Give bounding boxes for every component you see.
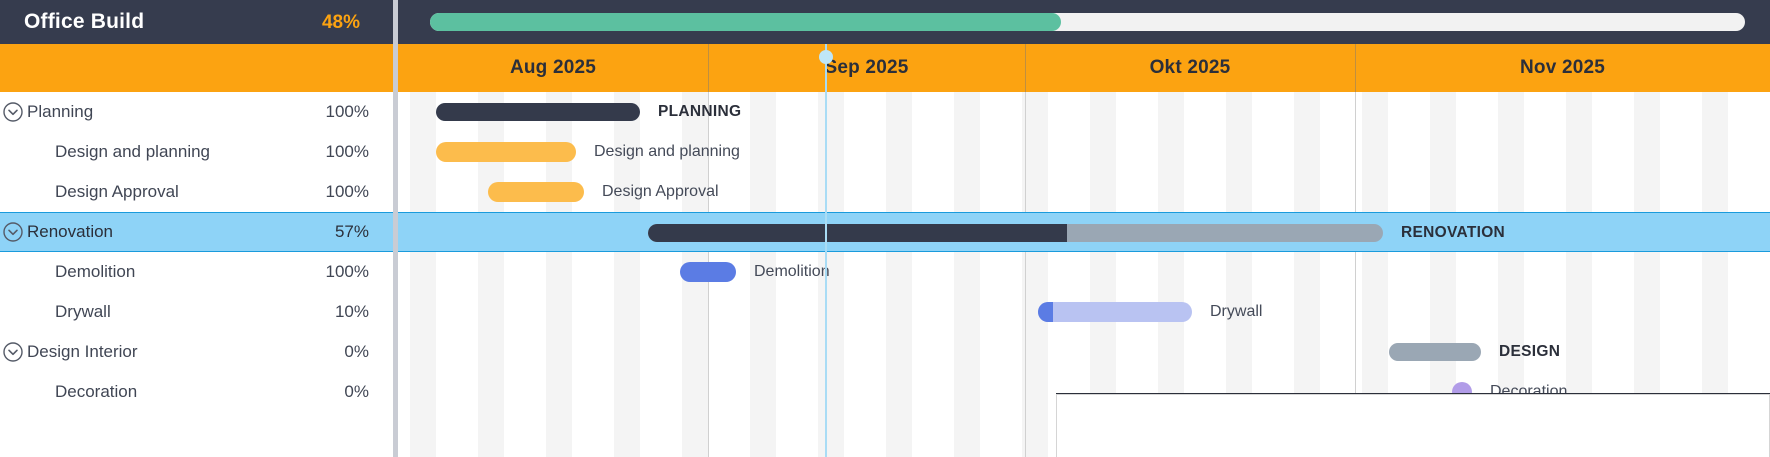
task-name-label: Renovation <box>27 222 113 242</box>
task-bar[interactable] <box>680 262 736 282</box>
overall-progress-fill <box>430 13 1061 31</box>
task-name-label: Drywall <box>55 302 111 322</box>
task-bar[interactable] <box>436 142 576 162</box>
task-list-sidebar: Planning100%Design and planning100%Desig… <box>0 92 393 457</box>
month-separator <box>1355 44 1356 92</box>
tooltip-panel <box>1056 394 1770 457</box>
task-bar[interactable] <box>488 182 584 202</box>
today-marker-line <box>825 44 827 457</box>
task-row-decoration[interactable]: Decoration0% <box>0 372 393 412</box>
task-percent-label: 100% <box>326 102 369 122</box>
month-separator <box>1025 44 1026 92</box>
task-row-design-interior[interactable]: Design Interior0% <box>0 332 393 372</box>
task-percent-label: 0% <box>344 382 369 402</box>
task-name-label: Design Interior <box>27 342 138 362</box>
summary-bar-progress <box>648 224 1067 242</box>
bar-label: RENOVATION <box>1401 213 1505 253</box>
bar-label: Demolition <box>754 252 830 292</box>
timeline-row: Design and planning <box>398 132 1770 172</box>
timeline-row: PLANNING <box>398 92 1770 132</box>
header-vertical-divider <box>393 0 398 44</box>
task-row-demolition[interactable]: Demolition100% <box>0 252 393 292</box>
month-header-divider <box>393 44 398 92</box>
month-separator <box>708 44 709 92</box>
task-percent-label: 10% <box>335 302 369 322</box>
today-marker-handle[interactable] <box>819 50 833 64</box>
bar-label: DESIGN <box>1499 332 1560 372</box>
month-label: Sep 2025 <box>708 44 1025 92</box>
gantt-chart-app: Office Build 48% Aug 2025Sep 2025Okt 202… <box>0 0 1770 457</box>
task-row-renovation[interactable]: Renovation57% <box>0 212 393 252</box>
month-label: Nov 2025 <box>1355 44 1770 92</box>
month-label: Okt 2025 <box>1025 44 1355 92</box>
chevron-down-icon[interactable] <box>2 101 24 123</box>
task-row-design-approval[interactable]: Design Approval100% <box>0 172 393 212</box>
summary-bar-progress <box>436 103 640 121</box>
bar-label: Design Approval <box>602 172 719 212</box>
bar-label: PLANNING <box>658 92 741 132</box>
overall-progress-track <box>430 13 1745 31</box>
month-label: Aug 2025 <box>398 44 708 92</box>
task-row-drywall[interactable]: Drywall10% <box>0 292 393 332</box>
task-name-label: Planning <box>27 102 93 122</box>
timeline-row: DESIGN <box>398 332 1770 372</box>
task-name-label: Decoration <box>55 382 137 402</box>
task-name-label: Design and planning <box>55 142 210 162</box>
project-title: Office Build <box>24 10 144 34</box>
timeline-row: RENOVATION <box>398 212 1770 252</box>
bar-label: Drywall <box>1210 292 1262 332</box>
task-percent-label: 100% <box>326 182 369 202</box>
summary-bar[interactable] <box>436 103 640 121</box>
task-percent-label: 0% <box>344 342 369 362</box>
task-percent-label: 57% <box>335 222 369 242</box>
task-row-planning[interactable]: Planning100% <box>0 92 393 132</box>
timeline-row: Demolition <box>398 252 1770 292</box>
task-name-label: Design Approval <box>55 182 179 202</box>
chevron-down-icon[interactable] <box>2 221 24 243</box>
task-row-design-and-planning[interactable]: Design and planning100% <box>0 132 393 172</box>
task-name-label: Demolition <box>55 262 135 282</box>
task-bar[interactable] <box>1038 302 1192 322</box>
bar-label: Design and planning <box>594 132 740 172</box>
task-percent-label: 100% <box>326 262 369 282</box>
timeline-row: Design Approval <box>398 172 1770 212</box>
task-bar-progress <box>1038 302 1053 322</box>
timeline-vertical-divider[interactable] <box>393 92 398 457</box>
summary-bar[interactable] <box>1389 343 1481 361</box>
summary-bar[interactable] <box>648 224 1383 242</box>
chevron-down-icon[interactable] <box>2 341 24 363</box>
project-percent-complete: 48% <box>300 12 360 34</box>
timeline-row: Drywall <box>398 292 1770 332</box>
task-percent-label: 100% <box>326 142 369 162</box>
